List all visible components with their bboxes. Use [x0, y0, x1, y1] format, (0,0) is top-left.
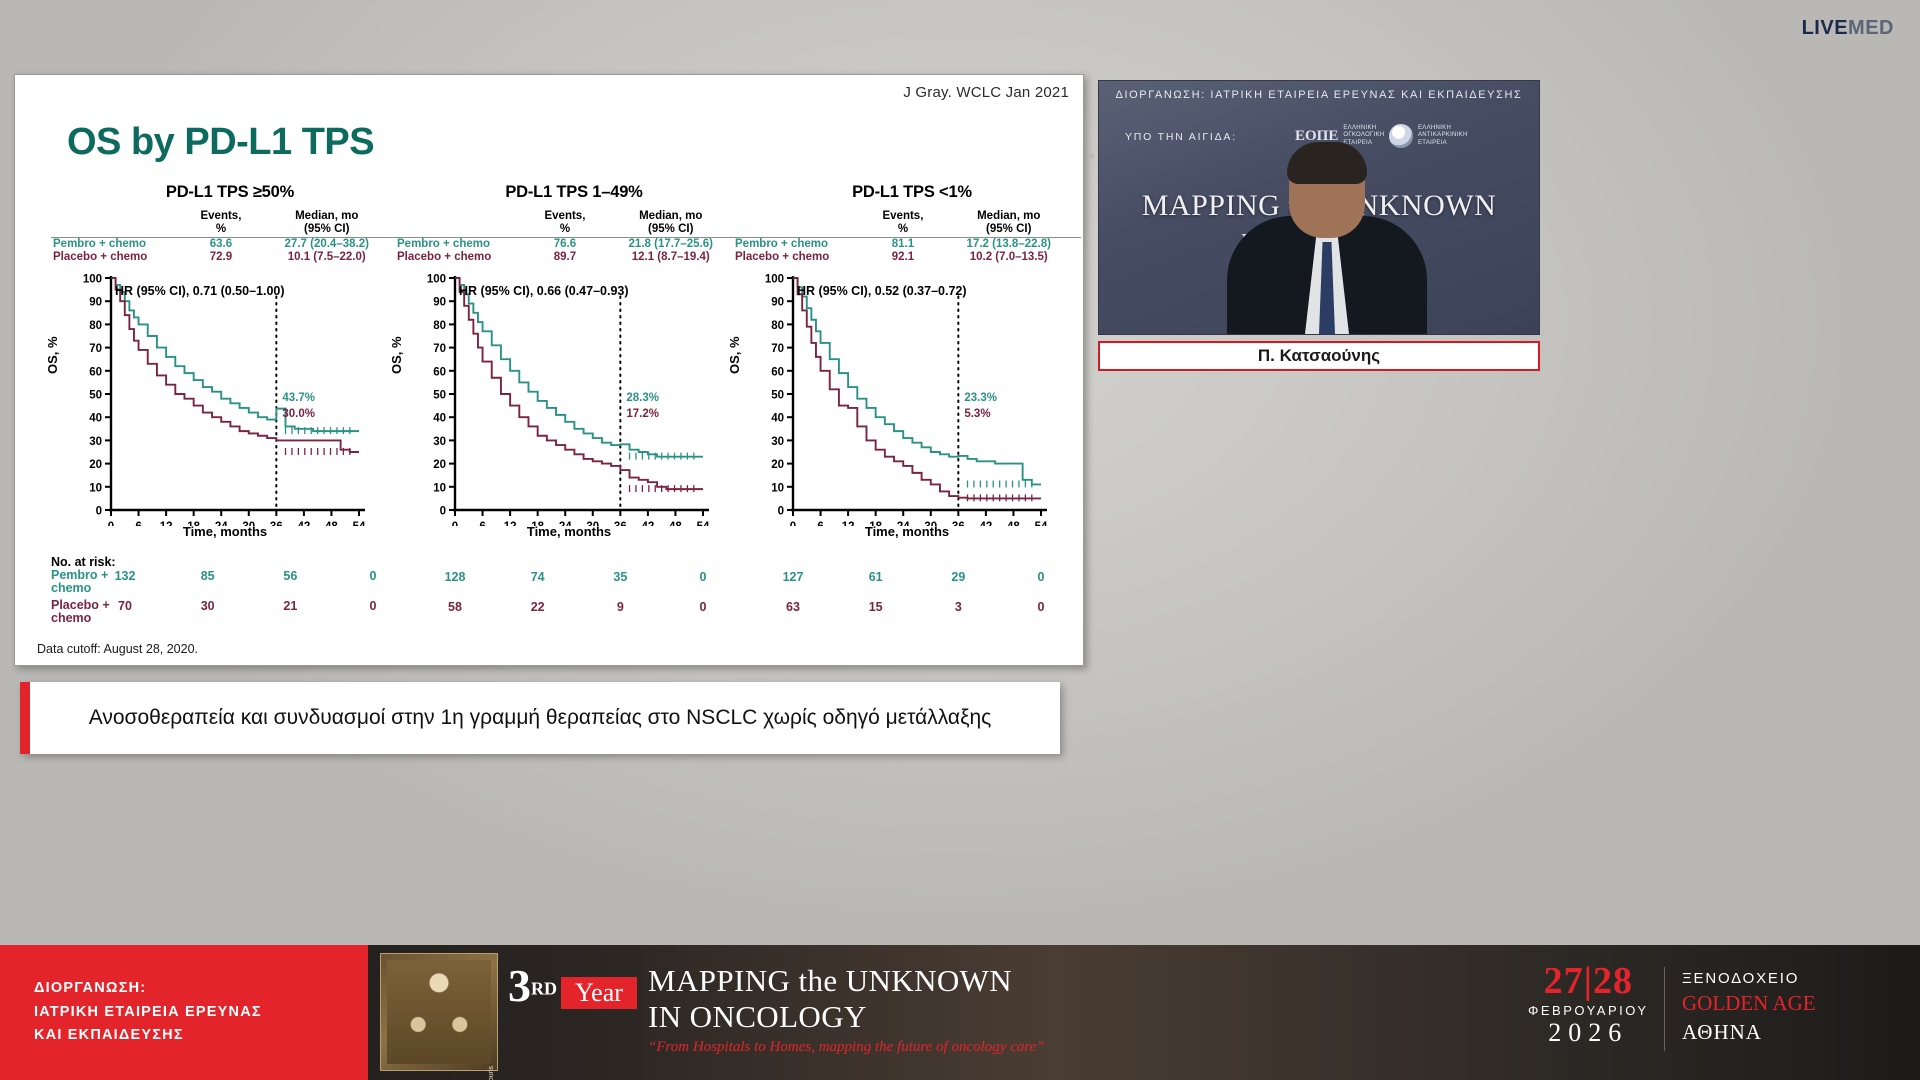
row-events-pct: 76.6: [531, 237, 598, 250]
y-tick-label: 30: [89, 435, 102, 447]
no-at-risk-table: 12761290631530: [733, 555, 1081, 630]
col-events-subheader: %: [187, 223, 254, 237]
banner-title-line2: IN ONCOLOGY: [648, 999, 1045, 1035]
col-median-header: Median, mo: [936, 210, 1081, 223]
landmark-pembro-pct: 23.3%: [964, 392, 997, 404]
y-tick-label: 20: [89, 459, 102, 471]
banner-venue-block: ΞΕΝΟΔΟΧΕΙΟ GOLDEN AGE ΑΘΗΝΑ: [1682, 969, 1816, 1046]
y-tick-label: 0: [778, 505, 784, 517]
table-row: Pembro + chemo81.117.2 (13.8–22.8): [733, 237, 1081, 250]
banner-edition-ordinal: RD: [531, 979, 557, 999]
no-at-risk-value: 0: [356, 599, 390, 613]
row-arm-label: Pembro + chemo: [395, 237, 531, 250]
banner-title-block: MAPPING the UNKNOWN IN ONCOLOGY “From Ho…: [648, 963, 1045, 1056]
banner-edition: 3RD Year: [508, 963, 637, 1009]
row-median: 12.1 (8.7–19.4): [598, 251, 743, 264]
y-tick-label: 50: [771, 389, 784, 401]
col-median-subheader: (95% CI): [254, 223, 399, 237]
no-at-risk-value: 35: [603, 570, 637, 584]
landmark-placebo-pct: 30.0%: [282, 408, 315, 420]
no-at-risk-value: 58: [438, 600, 472, 614]
no-at-risk-table: 12874350582290: [395, 555, 743, 630]
y-tick-label: 40: [433, 412, 446, 424]
banner-venue-name: GOLDEN AGE: [1682, 989, 1816, 1017]
km-curve: [111, 278, 359, 452]
hazard-ratio-annotation: HR (95% CI), 0.66 (0.47–0.93): [459, 284, 629, 298]
y-tick-label: 80: [433, 319, 446, 331]
y-tick-label: 20: [433, 459, 446, 471]
banner-year-chip: Year: [561, 977, 637, 1009]
banner-artwork-credit: C.Bouris: [488, 1066, 495, 1080]
panel-title: PD-L1 TPS ≥50%: [61, 183, 399, 202]
no-at-risk-row: 582290: [395, 600, 743, 630]
landmark-pembro-pct: 28.3%: [626, 392, 659, 404]
x-axis-label: Time, months: [395, 524, 743, 539]
banner-dates: 27|28: [1528, 959, 1649, 1003]
session-caption-bar: Ανοσοθεραπεία και συνδυασμοί στην 1η γρα…: [20, 682, 1060, 754]
livemed-med: MED: [1848, 17, 1894, 39]
no-at-risk-value: 70: [108, 599, 142, 613]
no-at-risk-value: 9: [603, 600, 637, 614]
row-events-pct: 72.9: [187, 251, 254, 264]
km-panel-tps-1-49: PD-L1 TPS 1–49%Events,Median, mo%(95% CI…: [395, 183, 743, 653]
col-events-header: Events,: [869, 210, 936, 223]
no-at-risk-value: 0: [1024, 600, 1058, 614]
row-arm-label: Placebo + chemo: [51, 251, 187, 264]
col-median-subheader: (95% CI): [936, 223, 1081, 237]
km-plot: 0102030405060708090100061218243036424854…: [733, 270, 1081, 522]
y-tick-label: 10: [771, 482, 784, 494]
no-at-risk-row: 12874350: [395, 570, 743, 600]
x-axis-label: Time, months: [733, 524, 1081, 539]
y-tick-label: 40: [771, 412, 784, 424]
km-curve: [793, 278, 1041, 498]
y-tick-label: 10: [89, 482, 102, 494]
no-at-risk-value: 0: [356, 569, 390, 583]
no-at-risk-value: 85: [191, 569, 225, 583]
table-row: Pembro + chemo76.621.8 (17.7–25.6): [395, 237, 743, 250]
col-median-header: Median, mo: [254, 210, 399, 223]
data-cutoff-note: Data cutoff: August 28, 2020.: [37, 642, 198, 656]
no-at-risk-value: 127: [776, 570, 810, 584]
video-organizer-line: ΔΙΟΡΓΑΝΩΣΗ: ΙΑΤΡΙΚΗ ΕΤΑΙΡΕΙΑ ΕΡΕΥΝΑΣ ΚΑΙ…: [1099, 89, 1539, 101]
no-at-risk-value: 22: [521, 600, 555, 614]
no-at-risk-value: 29: [941, 570, 975, 584]
row-events-pct: 63.6: [187, 237, 254, 250]
y-tick-label: 50: [433, 389, 446, 401]
banner-organizer-block: ΔΙΟΡΓΑΝΩΣΗ: ΙΑΤΡΙΚΗ ΕΤΑΙΡΕΙΑ ΕΡΕΥΝΑΣ ΚΑΙ…: [0, 945, 368, 1080]
table-row: Placebo + chemo89.712.1 (8.7–19.4): [395, 251, 743, 264]
banner-tagline: “From Hospitals to Homes, mapping the fu…: [648, 1039, 1045, 1056]
y-tick-label: 50: [89, 389, 102, 401]
session-caption-text: Ανοσοθεραπεία και συνδυασμοί στην 1η γρα…: [89, 705, 992, 732]
table-row: Placebo + chemo72.910.1 (7.5–22.0): [51, 251, 399, 264]
banner-month: ΦΕΒΡΟΥΑΡΙΟΥ: [1528, 1003, 1649, 1018]
no-at-risk-value: 0: [686, 570, 720, 584]
y-tick-label: 90: [89, 296, 102, 308]
landmark-pembro-pct: 43.7%: [282, 392, 315, 404]
y-axis-label: OS, %: [727, 336, 742, 374]
row-arm-label: Pembro + chemo: [51, 237, 187, 250]
livemed-live: LIVE: [1802, 17, 1848, 39]
row-arm-label: Placebo + chemo: [395, 251, 531, 264]
no-at-risk-value: 61: [859, 570, 893, 584]
no-at-risk-row: Pembro + chemo13285560: [51, 569, 399, 599]
landmark-placebo-pct: 5.3%: [964, 408, 990, 420]
y-tick-label: 100: [83, 273, 102, 285]
table-row: Pembro + chemo63.627.7 (20.4–38.2): [51, 237, 399, 250]
y-tick-label: 60: [89, 366, 102, 378]
banner-edition-number: 3: [508, 963, 531, 1009]
y-tick-label: 90: [771, 296, 784, 308]
y-tick-label: 20: [771, 459, 784, 471]
table-row: Placebo + chemo92.110.2 (7.0–13.5): [733, 251, 1081, 264]
banner-org-line3: ΚΑΙ ΕΚΠΑΙΔΕΥΣΗΣ: [34, 1024, 368, 1048]
y-tick-label: 70: [89, 343, 102, 355]
speaker-figure: [1227, 144, 1427, 334]
banner-venue-label: ΞΕΝΟΔΟΧΕΙΟ: [1682, 969, 1816, 989]
row-median: 27.7 (20.4–38.2): [254, 237, 399, 250]
no-at-risk-spacer: [733, 555, 1081, 570]
banner-artwork: C.Bouris: [380, 953, 498, 1071]
y-tick-label: 0: [96, 505, 102, 517]
col-events-subheader: %: [531, 223, 598, 237]
no-at-risk-value: 74: [521, 570, 555, 584]
row-median: 10.2 (7.0–13.5): [936, 251, 1081, 264]
y-axis-label: OS, %: [389, 336, 404, 374]
col-blank: [51, 210, 187, 223]
y-tick-label: 100: [427, 273, 446, 285]
row-arm-label: Pembro + chemo: [733, 237, 869, 250]
row-events-pct: 92.1: [869, 251, 936, 264]
summary-table: Events,Median, mo%(95% CI)Pembro + chemo…: [733, 210, 1081, 264]
col-median-subheader: (95% CI): [598, 223, 743, 237]
banner-year: 2026: [1528, 1018, 1649, 1048]
km-plot: 0102030405060708090100061218243036424854…: [395, 270, 743, 522]
y-tick-label: 60: [771, 366, 784, 378]
y-tick-label: 80: [89, 319, 102, 331]
col-events-header: Events,: [187, 210, 254, 223]
no-at-risk-value: 132: [108, 569, 142, 583]
slide-citation: J Gray. WCLC Jan 2021: [903, 84, 1069, 101]
no-at-risk-value: 21: [273, 599, 307, 613]
y-tick-label: 100: [765, 273, 784, 285]
km-plot: 0102030405060708090100061218243036424854…: [51, 270, 399, 522]
y-tick-label: 70: [771, 343, 784, 355]
speaker-name-bar: Π. Κατσαούνης: [1098, 341, 1540, 371]
y-tick-label: 80: [771, 319, 784, 331]
banner-dates-block: 27|28 ΦΕΒΡΟΥΑΡΙΟΥ 2026: [1528, 959, 1649, 1048]
no-at-risk-title: No. at risk:: [51, 555, 399, 569]
no-at-risk-row: Placebo + chemo7030210: [51, 599, 399, 629]
banner-title-line1: MAPPING the UNKNOWN: [648, 963, 1045, 999]
video-aegis-label: ΥΠΟ ΤΗΝ ΑΙΓΙΔΑ:: [1125, 131, 1237, 143]
presentation-slide: J Gray. WCLC Jan 2021 OS by PD-L1 TPS PD…: [14, 74, 1084, 666]
panel-title: PD-L1 TPS <1%: [743, 183, 1081, 202]
row-median: 10.1 (7.5–22.0): [254, 251, 399, 264]
no-at-risk-row: 12761290: [733, 570, 1081, 600]
speaker-video[interactable]: ΔΙΟΡΓΑΝΩΣΗ: ΙΑΤΡΙΚΗ ΕΤΑΙΡΕΙΑ ΕΡΕΥΝΑΣ ΚΑΙ…: [1098, 80, 1540, 335]
no-at-risk-table: No. at risk:Pembro + chemo13285560Placeb…: [51, 555, 399, 629]
banner-divider: [1664, 967, 1665, 1051]
y-tick-label: 30: [433, 435, 446, 447]
banner-org-line2: ΙΑΤΡΙΚΗ ΕΤΑΙΡΕΙΑ ΕΡΕΥΝΑΣ: [34, 1001, 368, 1025]
row-arm-label: Placebo + chemo: [733, 251, 869, 264]
col-blank: [733, 210, 869, 223]
livemed-logo: LIVEMED: [1802, 17, 1894, 40]
km-panel-tps-lt1: PD-L1 TPS <1%Events,Median, mo%(95% CI)P…: [733, 183, 1081, 653]
col-median-header: Median, mo: [598, 210, 743, 223]
banner-artwork-image: [387, 960, 491, 1064]
km-panel-tps-ge50: PD-L1 TPS ≥50%Events,Median, mo%(95% CI)…: [51, 183, 399, 653]
no-at-risk-spacer: [395, 555, 743, 570]
hazard-ratio-annotation: HR (95% CI), 0.52 (0.37–0.72): [797, 284, 967, 298]
no-at-risk-value: 63: [776, 600, 810, 614]
y-axis-label: OS, %: [45, 336, 60, 374]
no-at-risk-value: 30: [191, 599, 225, 613]
y-tick-label: 10: [433, 482, 446, 494]
y-tick-label: 0: [440, 505, 446, 517]
event-banner: ΔΙΟΡΓΑΝΩΣΗ: ΙΑΤΡΙΚΗ ΕΤΑΙΡΕΙΑ ΕΡΕΥΝΑΣ ΚΑΙ…: [0, 945, 1920, 1080]
landmark-placebo-pct: 17.2%: [626, 408, 659, 420]
no-at-risk-value: 15: [859, 600, 893, 614]
row-events-pct: 81.1: [869, 237, 936, 250]
row-median: 21.8 (17.7–25.6): [598, 237, 743, 250]
no-at-risk-row: 631530: [733, 600, 1081, 630]
speaker-hair: [1287, 142, 1367, 184]
summary-table: Events,Median, mo%(95% CI)Pembro + chemo…: [51, 210, 399, 264]
no-at-risk-value: 56: [273, 569, 307, 583]
banner-org-line1: ΔΙΟΡΓΑΝΩΣΗ:: [34, 977, 368, 1001]
col-events-header: Events,: [531, 210, 598, 223]
no-at-risk-value: 3: [941, 600, 975, 614]
no-at-risk-value: 128: [438, 570, 472, 584]
y-tick-label: 40: [89, 412, 102, 424]
y-tick-label: 70: [433, 343, 446, 355]
col-events-subheader: %: [869, 223, 936, 237]
banner-venue-city: ΑΘΗΝΑ: [1682, 1018, 1816, 1046]
no-at-risk-arm-label: Pembro + chemo: [51, 569, 108, 595]
col-blank: [395, 210, 531, 223]
speaker-name: Π. Κατσαούνης: [1258, 346, 1380, 366]
row-events-pct: 89.7: [531, 251, 598, 264]
summary-table: Events,Median, mo%(95% CI)Pembro + chemo…: [395, 210, 743, 264]
y-tick-label: 90: [433, 296, 446, 308]
slide-title: OS by PD-L1 TPS: [67, 121, 374, 164]
hazard-ratio-annotation: HR (95% CI), 0.71 (0.50–1.00): [115, 284, 285, 298]
panel-title: PD-L1 TPS 1–49%: [405, 183, 743, 202]
no-at-risk-value: 0: [686, 600, 720, 614]
y-tick-label: 30: [771, 435, 784, 447]
y-tick-label: 60: [433, 366, 446, 378]
no-at-risk-value: 0: [1024, 570, 1058, 584]
x-axis-label: Time, months: [51, 524, 399, 539]
row-median: 17.2 (13.8–22.8): [936, 237, 1081, 250]
no-at-risk-arm-label: Placebo + chemo: [51, 599, 110, 625]
